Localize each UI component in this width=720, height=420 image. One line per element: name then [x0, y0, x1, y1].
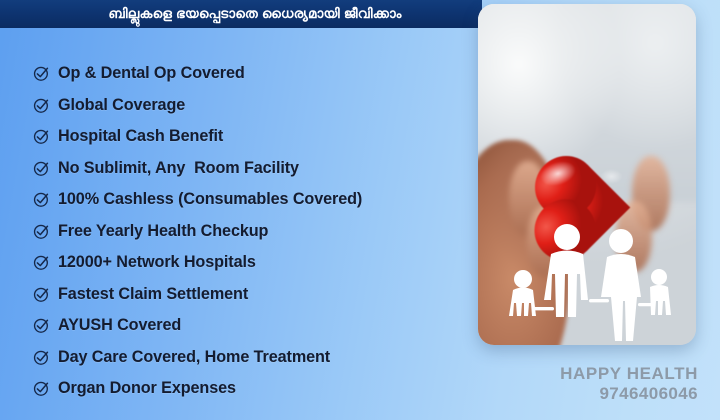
check-circle-icon [33, 380, 50, 397]
list-item-label: 100% Cashless (Consumables Covered) [58, 190, 362, 209]
list-item-label: No Sublimit, Any Room Facility [58, 159, 299, 178]
second-child-silhouette [650, 269, 671, 315]
check-circle-icon [33, 223, 50, 240]
check-circle-icon [33, 191, 50, 208]
check-circle-icon [33, 97, 50, 114]
list-item: AYUSH Covered [33, 310, 473, 342]
check-circle-icon [33, 128, 50, 145]
contact-phone-number: 9746406046 [560, 384, 698, 404]
list-item: Day Care Covered, Home Treatment [33, 342, 473, 374]
list-item-label: Fastest Claim Settlement [58, 285, 248, 304]
list-item-label: Global Coverage [58, 96, 185, 115]
list-item-label: Day Care Covered, Home Treatment [58, 348, 330, 367]
list-item: Free Yearly Health Checkup [33, 216, 473, 248]
check-circle-icon [33, 286, 50, 303]
mother-silhouette [601, 229, 641, 341]
list-item-label: Organ Donor Expenses [58, 379, 236, 398]
heart-highlight-secondary [596, 166, 627, 187]
brand-contact-block: HAPPY HEALTH 9746406046 [560, 364, 698, 404]
list-item: 100% Cashless (Consumables Covered) [33, 184, 473, 216]
check-circle-icon [33, 317, 50, 334]
headline-malayalam-text: ബില്ലുകളെ ഭയപ്പെടാതെ ധൈര്യമായി ജീവിക്കാം [80, 6, 401, 22]
list-item-label: AYUSH Covered [58, 316, 181, 335]
list-item-label: Op & Dental Op Covered [58, 64, 245, 83]
benefits-list: Op & Dental Op Covered Global Coverage H… [33, 58, 473, 405]
check-circle-icon [33, 160, 50, 177]
check-circle-icon [33, 254, 50, 271]
list-item-label: 12000+ Network Hospitals [58, 253, 256, 272]
list-item-label: Hospital Cash Benefit [58, 127, 223, 146]
family-silhouettes [489, 213, 685, 345]
list-item: No Sublimit, Any Room Facility [33, 153, 473, 185]
father-silhouette [544, 224, 588, 317]
list-item: Global Coverage [33, 90, 473, 122]
list-item: Organ Donor Expenses [33, 373, 473, 405]
list-item: Fastest Claim Settlement [33, 279, 473, 311]
headline-banner: ബില്ലുകളെ ഭയപ്പെടാതെ ധൈര്യമായി ജീവിക്കാം [0, 0, 482, 28]
check-circle-icon [33, 65, 50, 82]
list-item-label: Free Yearly Health Checkup [58, 222, 268, 241]
health-insurance-benefits-poster: ബില്ലുകളെ ഭയപ്പെടാതെ ധൈര്യമായി ജീവിക്കാം… [0, 0, 720, 420]
list-item: 12000+ Network Hospitals [33, 247, 473, 279]
check-circle-icon [33, 349, 50, 366]
brand-name: HAPPY HEALTH [560, 364, 698, 384]
hands-holding-heart-photo [478, 4, 696, 345]
list-item: Op & Dental Op Covered [33, 58, 473, 90]
child-silhouette [509, 270, 536, 316]
list-item: Hospital Cash Benefit [33, 121, 473, 153]
